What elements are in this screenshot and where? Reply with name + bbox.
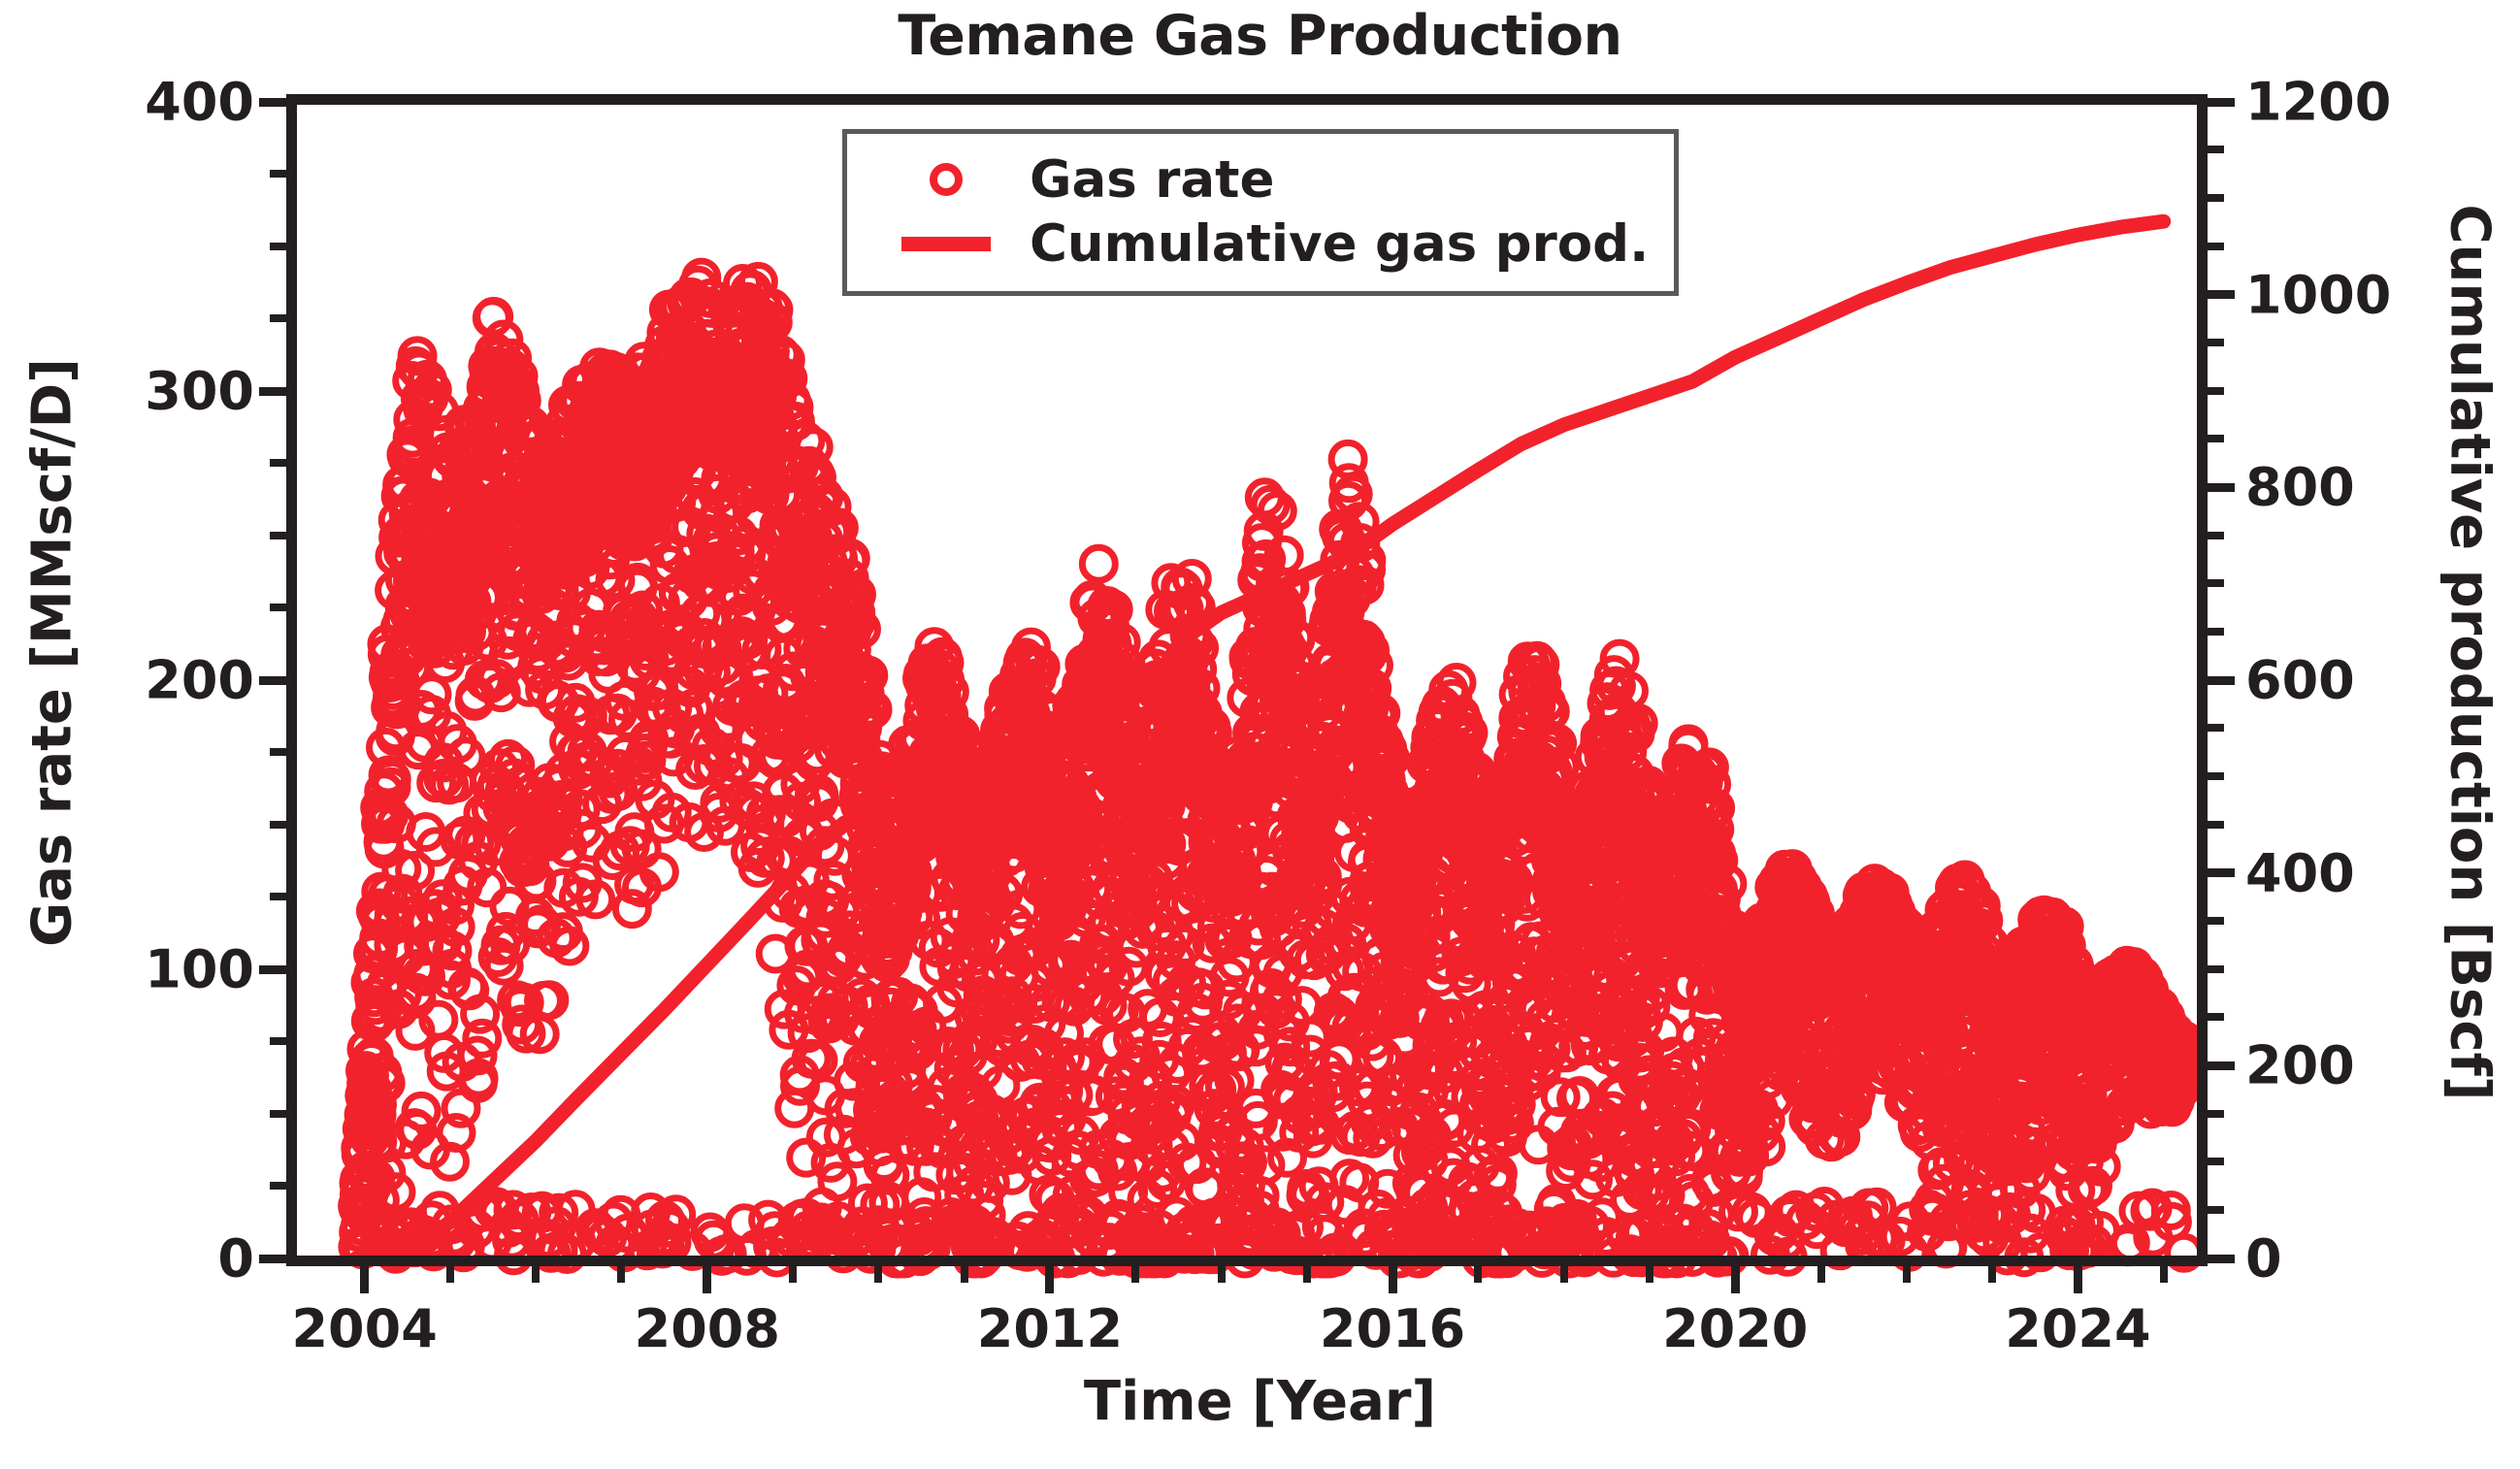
y-right-tick-minor <box>2208 1206 2224 1214</box>
y-right-tick-minor <box>2208 1158 2224 1165</box>
y-left-tick-label: 100 <box>145 939 254 1000</box>
y-right-tick-minor <box>2208 1013 2224 1021</box>
x-tick-label: 2016 <box>1320 1298 1465 1359</box>
x-tick-major <box>1731 1266 1740 1293</box>
x-tick-minor <box>617 1266 625 1283</box>
y-right-tick-label: 1200 <box>2245 72 2391 133</box>
y-left-tick-label: 300 <box>145 361 254 422</box>
x-tick-minor <box>1817 1266 1825 1283</box>
y-right-tick-major <box>2208 1255 2235 1263</box>
y-left-tick-label: 0 <box>217 1228 254 1289</box>
y-left-tick-minor <box>270 1037 286 1045</box>
y-right-tick-minor <box>2208 628 2224 636</box>
x-tick-major <box>1389 1266 1397 1293</box>
x-tick-minor <box>1646 1266 1653 1283</box>
y-right-tick-major <box>2208 676 2235 685</box>
legend[interactable]: Gas rate Cumulative gas prod. <box>842 129 1679 296</box>
x-tick-label: 2008 <box>635 1298 780 1359</box>
y-right-tick-minor <box>2208 917 2224 925</box>
y-right-tick-minor <box>2208 1110 2224 1118</box>
y-right-tick-label: 600 <box>2245 650 2355 711</box>
y-left-tick-major <box>259 676 286 685</box>
y-right-tick-minor <box>2208 387 2224 395</box>
y-right-tick-label: 400 <box>2245 842 2355 903</box>
y-right-tick-minor <box>2208 339 2224 346</box>
x-tick-minor <box>1903 1266 1911 1283</box>
x-tick-minor <box>1988 1266 1996 1283</box>
x-tick-minor <box>2160 1266 2168 1283</box>
axis-spine-left <box>286 94 297 1266</box>
y-right-tick-minor <box>2208 146 2224 153</box>
x-axis-title: Time [Year] <box>0 1370 2520 1433</box>
x-tick-major <box>360 1266 369 1293</box>
line-marker-icon <box>872 237 1020 251</box>
y-right-tick-minor <box>2208 243 2224 250</box>
axis-spine-right <box>2197 94 2208 1266</box>
x-tick-minor <box>532 1266 540 1283</box>
y-left-tick-label: 200 <box>145 650 254 711</box>
y-right-tick-minor <box>2208 772 2224 780</box>
x-tick-label: 2020 <box>1662 1298 1808 1359</box>
x-tick-label: 2024 <box>2005 1298 2150 1359</box>
y-right-tick-minor <box>2208 194 2224 202</box>
y-left-tick-minor <box>270 532 286 539</box>
x-tick-minor <box>1218 1266 1226 1283</box>
y-axis-right-title: Cumulative production [Bscf] <box>2438 51 2502 1255</box>
y-left-tick-minor <box>270 604 286 611</box>
y-right-tick-major <box>2208 98 2235 107</box>
scatter-series-gas-rate <box>342 261 2202 1275</box>
x-tick-major <box>2074 1266 2082 1293</box>
x-tick-major <box>1045 1266 1054 1293</box>
y-right-tick-label: 1000 <box>2245 264 2391 325</box>
y-right-tick-minor <box>2208 579 2224 587</box>
y-left-tick-major <box>259 98 286 107</box>
y-left-tick-minor <box>270 1182 286 1190</box>
legend-item-gas-rate[interactable]: Gas rate <box>872 147 1649 212</box>
x-tick-label: 2004 <box>291 1298 437 1359</box>
y-left-tick-minor <box>270 821 286 829</box>
legend-item-cumulative[interactable]: Cumulative gas prod. <box>872 212 1649 276</box>
y-right-tick-major <box>2208 483 2235 492</box>
x-tick-minor <box>961 1266 968 1283</box>
x-tick-label: 2012 <box>977 1298 1123 1359</box>
y-right-tick-major <box>2208 868 2235 877</box>
x-tick-minor <box>1474 1266 1482 1283</box>
y-right-tick-minor <box>2208 435 2224 442</box>
y-left-tick-major <box>259 1255 286 1263</box>
y-right-tick-label: 800 <box>2245 457 2355 518</box>
open-circle-marker-icon <box>872 163 1020 196</box>
y-left-tick-major <box>259 965 286 974</box>
y-left-tick-label: 400 <box>145 72 254 133</box>
x-tick-minor <box>1560 1266 1568 1283</box>
x-tick-minor <box>789 1266 797 1283</box>
x-tick-minor <box>1303 1266 1311 1283</box>
y-right-tick-major <box>2208 290 2235 299</box>
y-right-tick-minor <box>2208 821 2224 829</box>
y-right-tick-major <box>2208 1061 2235 1070</box>
y-left-tick-minor <box>270 893 286 900</box>
y-left-tick-major <box>259 387 286 396</box>
x-tick-minor <box>446 1266 454 1283</box>
legend-label-gas-rate: Gas rate <box>1020 150 1274 210</box>
y-left-tick-minor <box>270 1110 286 1118</box>
axis-spine-bottom <box>286 1256 2208 1266</box>
y-right-tick-minor <box>2208 965 2224 973</box>
y-right-tick-label: 200 <box>2245 1035 2355 1096</box>
x-tick-minor <box>874 1266 882 1283</box>
y-right-tick-label: 0 <box>2245 1228 2282 1289</box>
x-tick-major <box>703 1266 711 1293</box>
y-left-tick-minor <box>270 243 286 250</box>
chart-figure: Temane Gas Production 200420082012201620… <box>0 0 2520 1469</box>
y-left-tick-minor <box>270 459 286 467</box>
y-right-tick-minor <box>2208 532 2224 539</box>
y-axis-left-title: Gas rate [MMscf/D] <box>21 51 84 1255</box>
legend-label-cumulative: Cumulative gas prod. <box>1020 214 1649 274</box>
y-left-tick-minor <box>270 170 286 178</box>
y-left-tick-minor <box>270 314 286 322</box>
y-left-tick-minor <box>270 748 286 756</box>
axis-spine-top <box>286 94 2208 105</box>
y-right-tick-minor <box>2208 724 2224 732</box>
x-tick-minor <box>1131 1266 1139 1283</box>
